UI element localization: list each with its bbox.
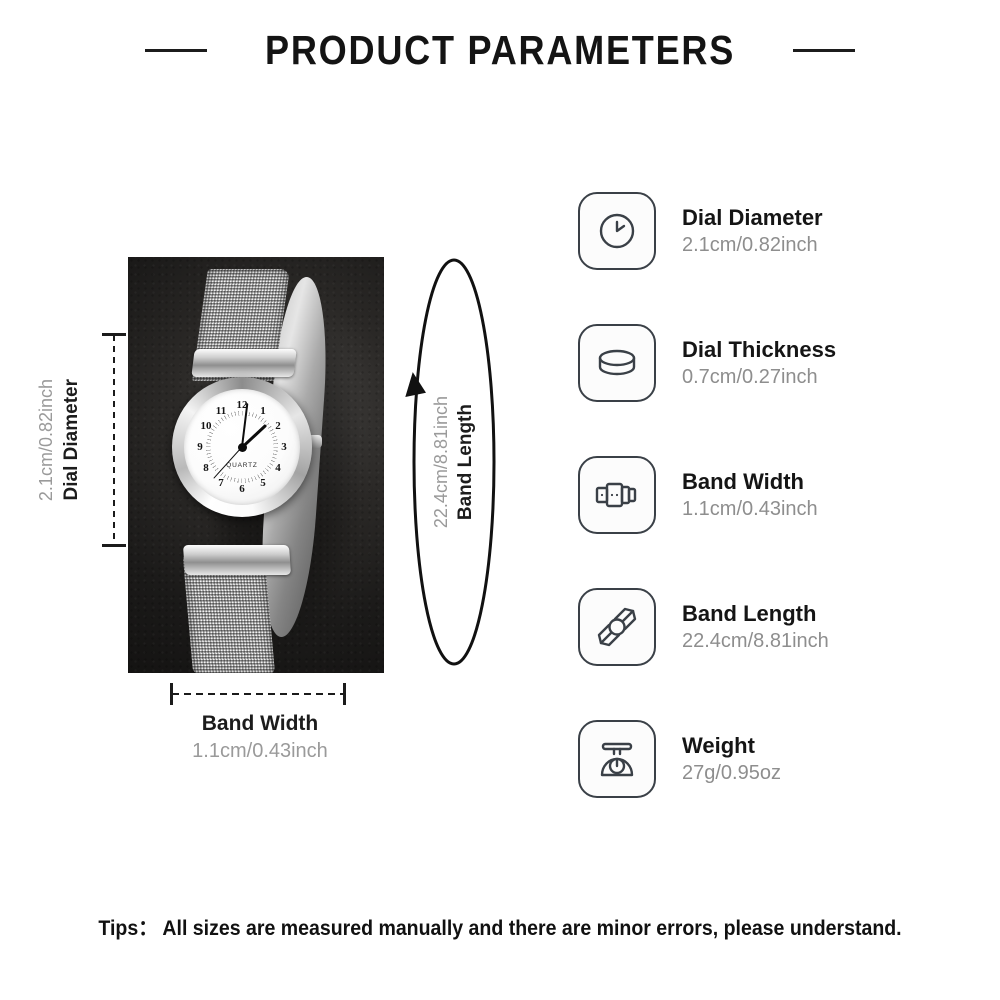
numeral-10: 10 (201, 420, 212, 432)
dial-diameter-label: Dial Diameter (61, 379, 83, 500)
band-length-value: 22.4cm/8.81inch (431, 396, 452, 528)
band-length-label: Band Length (455, 404, 477, 520)
watch-outline-icon (578, 588, 656, 666)
dial-diameter-value: 2.1cm/0.82inch (36, 379, 57, 501)
measure-dashed-line-horizontal (172, 693, 344, 695)
tips-note: Tips： All sizes are measured manually an… (35, 912, 965, 942)
numeral-7: 7 (218, 477, 224, 489)
spec-label: Dial Diameter (682, 206, 823, 229)
band-lug-bottom (183, 545, 291, 575)
numeral-1: 1 (260, 405, 266, 417)
spec-text-dial-diameter: Dial Diameter 2.1cm/0.82inch (682, 206, 823, 255)
band-width-value: 1.1cm/0.43inch (100, 738, 420, 765)
kitchen-scale-icon (578, 720, 656, 798)
numeral-6: 6 (239, 483, 245, 495)
measure-dashed-line (113, 335, 115, 545)
title-rule-right (793, 49, 855, 52)
measure-cap-bottom (102, 544, 126, 547)
dial-diameter-annotation: Dial Diameter 2.1cm/0.82inch (36, 333, 83, 547)
measure-cap-right (343, 683, 346, 705)
page-title: PRODUCT PARAMETERS (265, 27, 735, 74)
band-width-annotation: Band Width 1.1cm/0.43inch (100, 710, 420, 765)
cylinder-icon (578, 324, 656, 402)
product-photo: 12 1 2 3 4 5 6 7 8 9 10 11 QUARTZ (128, 257, 384, 673)
spec-text-band-length: Band Length 22.4cm/8.81inch (682, 602, 829, 651)
spec-row-band-width: Band Width 1.1cm/0.43inch (578, 454, 978, 536)
numeral-9: 9 (197, 441, 203, 453)
spec-label: Band Width (682, 470, 818, 493)
watch-case: 12 1 2 3 4 5 6 7 8 9 10 11 QUARTZ (172, 377, 312, 517)
band-width-measure-line (170, 683, 346, 705)
spec-row-dial-diameter: Dial Diameter 2.1cm/0.82inch (578, 190, 978, 272)
title-rule-left (145, 49, 207, 52)
spec-label: Dial Thickness (682, 338, 836, 361)
product-parameters-page: PRODUCT PARAMETERS 12 1 2 3 4 5 6 (0, 0, 1000, 1000)
spec-label: Band Length (682, 602, 829, 625)
spec-value: 2.1cm/0.82inch (682, 235, 823, 256)
page-header: PRODUCT PARAMETERS (0, 20, 1000, 80)
dial-diameter-measure-line (102, 333, 126, 547)
watch-strap-icon (578, 456, 656, 534)
spec-row-band-length: Band Length 22.4cm/8.81inch (578, 586, 978, 668)
spec-text-band-width: Band Width 1.1cm/0.43inch (682, 470, 818, 519)
spec-label: Weight (682, 734, 781, 757)
numeral-2: 2 (275, 420, 281, 432)
watch-dial-icon (578, 192, 656, 270)
numeral-5: 5 (260, 477, 266, 489)
numeral-11: 11 (216, 405, 226, 417)
dial-center-pin (238, 443, 247, 452)
spec-value: 27g/0.95oz (682, 763, 781, 784)
spec-text-weight: Weight 27g/0.95oz (682, 734, 781, 783)
spec-row-dial-thickness: Dial Thickness 0.7cm/0.27inch (578, 322, 978, 404)
band-lug-top (191, 349, 296, 377)
band-length-annotation: Band Length 22.4cm/8.81inch (398, 252, 510, 672)
spec-value: 1.1cm/0.43inch (682, 499, 818, 520)
band-width-label: Band Width (100, 710, 420, 738)
numeral-8: 8 (203, 462, 209, 474)
dial-brand-text: QUARTZ (226, 462, 257, 469)
watch-dial: 12 1 2 3 4 5 6 7 8 9 10 11 QUARTZ (184, 389, 300, 505)
spec-value: 0.7cm/0.27inch (682, 367, 836, 388)
spec-text-dial-thickness: Dial Thickness 0.7cm/0.27inch (682, 338, 836, 387)
numeral-3: 3 (281, 441, 287, 453)
spec-value: 22.4cm/8.81inch (682, 631, 829, 652)
numeral-4: 4 (275, 462, 281, 474)
spec-row-weight: Weight 27g/0.95oz (578, 718, 978, 800)
